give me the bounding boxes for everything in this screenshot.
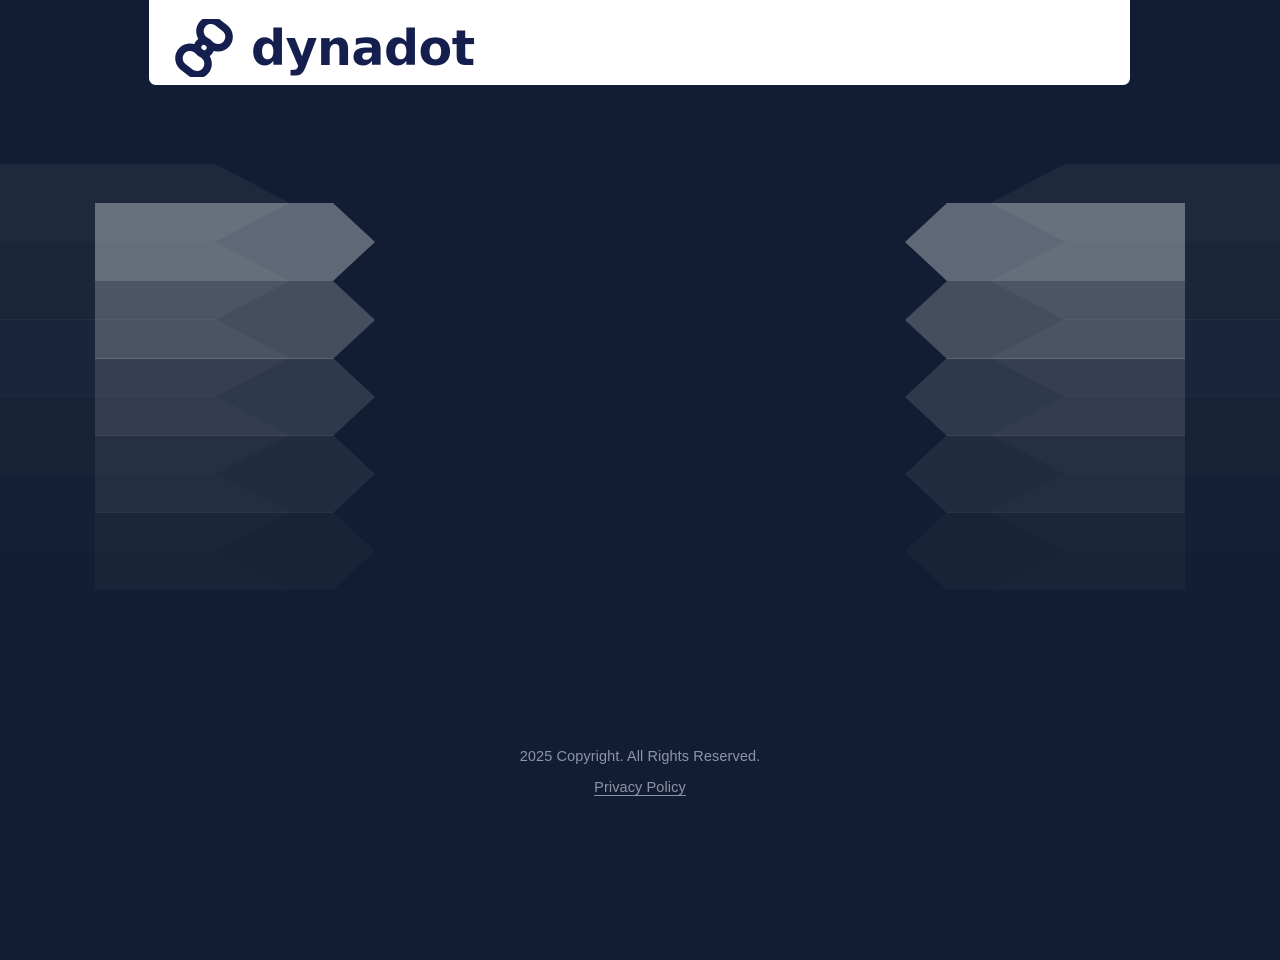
copyright-text: 2025 Copyright. All Rights Reserved. [0,745,1280,769]
right-chevron-stack [905,203,1185,590]
right-chevron-ghost-stack [990,164,1280,628]
page-root: dynadot 2025 Copyright. All Rights Reser… [0,0,1280,960]
brand-logo[interactable]: dynadot [174,19,475,77]
background-decoration [0,0,1280,960]
page-footer: 2025 Copyright. All Rights Reserved. Pri… [0,745,1280,797]
privacy-policy-row: Privacy Policy [0,779,1280,797]
left-chevron-ghost-stack [0,164,290,628]
left-chevron-stack [95,203,375,590]
privacy-policy-link[interactable]: Privacy Policy [594,780,686,796]
header-card: dynadot [149,0,1130,85]
brand-wordmark: dynadot [251,24,475,73]
dynadot-chain-link-icon [174,19,234,77]
